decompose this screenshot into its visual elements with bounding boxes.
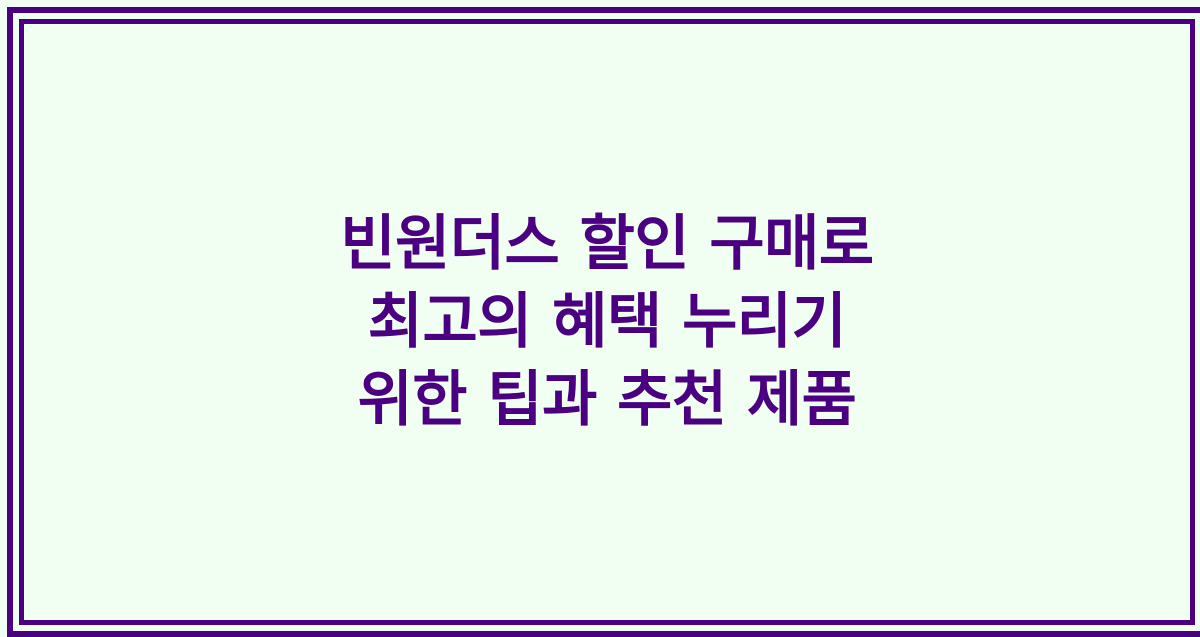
headline-line-2: 최고의 혜택 누리기 — [53, 283, 1161, 361]
poster-shell: 빈원더스 할인 구매로 최고의 혜택 누리기 위한 팁과 추천 제품 — [0, 0, 1200, 630]
headline-line-3: 위한 팁과 추천 제품 — [53, 361, 1161, 439]
headline-line-1: 빈원더스 할인 구매로 — [53, 205, 1161, 283]
poster-card: 빈원더스 할인 구매로 최고의 혜택 누리기 위한 팁과 추천 제품 — [7, 7, 1200, 637]
headline-block: 빈원더스 할인 구매로 최고의 혜택 누리기 위한 팁과 추천 제품 — [13, 205, 1200, 439]
